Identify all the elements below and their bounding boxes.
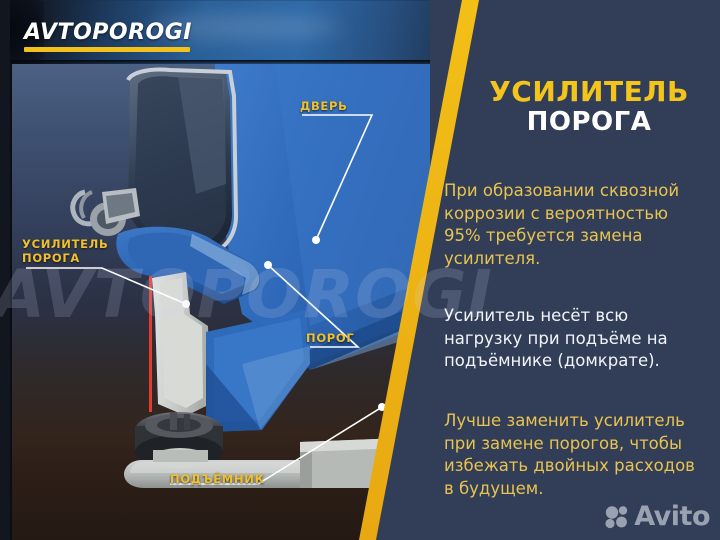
advertisement-image: AVTOPOROGI AVTOPOROGI УСИЛИТЕЛЬ ПОРОГА П… xyxy=(0,0,720,540)
page-title-line1: УСИЛИТЕЛЬ xyxy=(466,76,712,107)
brand-logo-text: AVTOPOROGI xyxy=(24,20,192,45)
callout-label-reinforcement: УСИЛИТЕЛЬ ПОРОГА xyxy=(22,238,108,265)
callout-label-sill: ПОРОГ xyxy=(306,332,354,346)
callout-label-reinforcement-line1: УСИЛИТЕЛЬ xyxy=(22,238,108,252)
page-title: УСИЛИТЕЛЬ ПОРОГА xyxy=(466,76,712,137)
door-hinge-assembly xyxy=(73,188,140,236)
callout-label-lift: ПОДЪЁМНИК xyxy=(170,473,265,487)
page-title-line2: ПОРОГА xyxy=(466,107,712,137)
avito-logo-icon xyxy=(604,505,630,529)
brand-logo: AVTOPOROGI xyxy=(24,20,192,52)
callout-label-reinforcement-line2: ПОРОГА xyxy=(22,252,108,266)
brand-logo-underline xyxy=(24,47,190,52)
callout-label-door: ДВЕРЬ xyxy=(300,100,348,114)
paragraph-load: Усилитель несёт всю нагрузку при подъёме… xyxy=(444,305,700,373)
avito-logo-text: Avito xyxy=(634,501,710,532)
paragraph-corrosion: При образовании сквозной коррозии с веро… xyxy=(444,180,700,270)
avito-watermark: Avito xyxy=(604,501,710,532)
paragraph-advice: Лучше заменить усилитель при замене поро… xyxy=(444,410,700,500)
